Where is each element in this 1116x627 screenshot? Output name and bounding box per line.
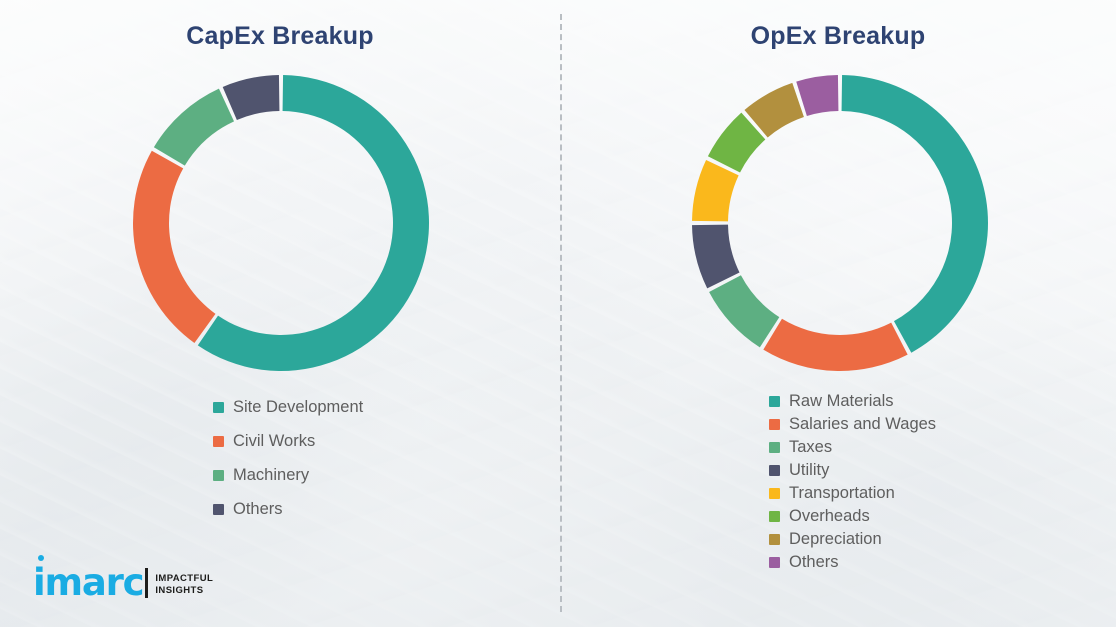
opex-donut-svg	[690, 73, 990, 373]
opex-legend-item[interactable]: Utility	[769, 459, 936, 482]
opex-slice[interactable]	[692, 225, 739, 289]
legend-label: Others	[789, 553, 839, 572]
opex-legend-item[interactable]: Raw Materials	[769, 390, 936, 413]
legend-swatch-icon	[769, 534, 780, 545]
capex-donut-svg	[131, 73, 431, 373]
opex-panel: OpEx Breakup Raw MaterialsSalaries and W…	[560, 0, 1116, 627]
opex-slice[interactable]	[709, 275, 779, 347]
logo-divider-bar	[145, 568, 148, 598]
legend-label: Overheads	[789, 507, 870, 526]
opex-legend: Raw MaterialsSalaries and WagesTaxesUtil…	[769, 390, 936, 574]
capex-legend-item[interactable]: Site Development	[213, 390, 363, 424]
capex-panel: CapEx Breakup Site DevelopmentCivil Work…	[0, 0, 560, 627]
opex-legend-item[interactable]: Others	[769, 551, 936, 574]
capex-donut-chart	[131, 73, 431, 373]
capex-slice[interactable]	[154, 89, 234, 166]
legend-label: Machinery	[233, 466, 309, 485]
logo-dot-icon	[38, 555, 44, 561]
legend-swatch-icon	[769, 465, 780, 476]
capex-slice[interactable]	[133, 151, 215, 343]
logo-wordmark: imarc	[33, 561, 143, 604]
opex-title: OpEx Breakup	[560, 22, 1116, 51]
opex-donut-chart	[690, 73, 990, 373]
opex-slice[interactable]	[763, 319, 907, 371]
capex-legend-item[interactable]: Others	[213, 492, 363, 526]
opex-legend-item[interactable]: Taxes	[769, 436, 936, 459]
opex-legend-item[interactable]: Depreciation	[769, 528, 936, 551]
logo-tagline-line1: IMPACTFUL	[155, 573, 213, 585]
legend-label: Civil Works	[233, 432, 315, 451]
opex-slice[interactable]	[796, 75, 838, 116]
capex-legend-item[interactable]: Civil Works	[213, 424, 363, 458]
legend-label: Taxes	[789, 438, 832, 457]
legend-swatch-icon	[213, 504, 224, 515]
legend-swatch-icon	[769, 419, 780, 430]
legend-label: Depreciation	[789, 530, 882, 549]
legend-swatch-icon	[769, 557, 780, 568]
opex-legend-item[interactable]: Transportation	[769, 482, 936, 505]
legend-swatch-icon	[213, 402, 224, 413]
legend-swatch-icon	[213, 436, 224, 447]
imarc-logo: imarc IMPACTFUL INSIGHTS	[33, 566, 213, 600]
legend-swatch-icon	[769, 511, 780, 522]
legend-label: Site Development	[233, 398, 363, 417]
legend-label: Utility	[789, 461, 829, 480]
capex-slice[interactable]	[223, 75, 280, 120]
legend-swatch-icon	[769, 396, 780, 407]
legend-label: Others	[233, 500, 283, 519]
logo-wordmark-wrap: imarc	[33, 566, 143, 600]
legend-swatch-icon	[769, 488, 780, 499]
capex-title: CapEx Breakup	[0, 22, 560, 51]
legend-label: Raw Materials	[789, 392, 894, 411]
opex-legend-item[interactable]: Overheads	[769, 505, 936, 528]
opex-legend-item[interactable]: Salaries and Wages	[769, 413, 936, 436]
legend-swatch-icon	[213, 470, 224, 481]
legend-swatch-icon	[769, 442, 780, 453]
legend-label: Salaries and Wages	[789, 415, 936, 434]
opex-slice[interactable]	[692, 160, 739, 221]
capex-legend: Site DevelopmentCivil WorksMachineryOthe…	[213, 390, 363, 526]
opex-slice[interactable]	[842, 75, 988, 353]
slide-canvas: CapEx Breakup Site DevelopmentCivil Work…	[0, 0, 1116, 627]
logo-tagline-line2: INSIGHTS	[155, 585, 213, 597]
logo-tagline: IMPACTFUL INSIGHTS	[155, 573, 213, 597]
legend-label: Transportation	[789, 484, 895, 503]
capex-legend-item[interactable]: Machinery	[213, 458, 363, 492]
